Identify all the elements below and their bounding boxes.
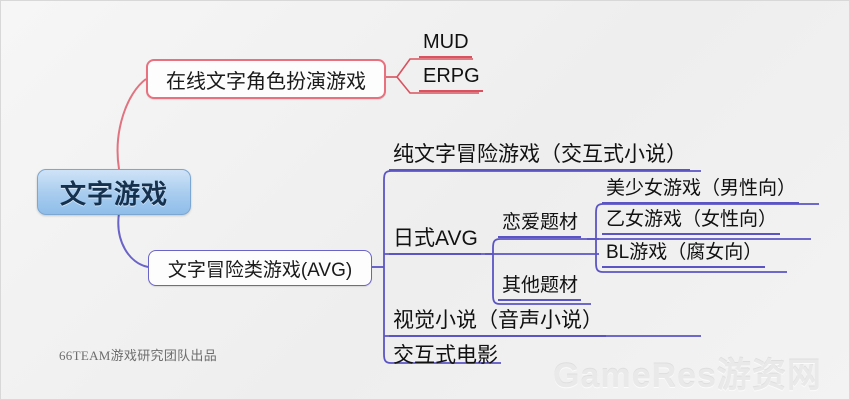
node-japanese-avg-label: 日式AVG [393,227,478,250]
node-text-adventure-avg-label: 文字冒险类游戏(AVG) [168,255,352,282]
node-erpg-label: ERPG [423,65,480,87]
edge-root-to-avg [118,213,148,267]
node-bishoujo-game[interactable]: 美少女游戏（男性向） [602,178,799,204]
root-node[interactable]: 文字游戏 [37,169,191,215]
node-bl-game-label: BL游戏（腐女向） [606,242,762,263]
node-interactive-movie[interactable]: 交互式电影 [389,344,501,370]
node-bishoujo-game-label: 美少女游戏（男性向） [606,178,796,199]
node-romance-theme-label: 恋爱题材 [502,212,578,233]
watermark: GameRes游资网 [553,348,822,397]
node-japanese-avg[interactable]: 日式AVG [389,227,481,255]
node-otome-game-label: 乙女游戏（女性向） [606,209,777,230]
node-other-theme-label: 其他题材 [502,275,578,296]
node-erpg[interactable]: ERPG [419,65,483,92]
node-mud[interactable]: MUD [419,31,472,58]
node-romance-theme[interactable]: 恋爱题材 [498,212,581,238]
node-online-text-rpg[interactable]: 在线文字角色扮演游戏 [146,59,386,99]
node-online-text-rpg-label: 在线文字角色扮演游戏 [166,65,366,94]
node-pure-text-adventure[interactable]: 纯文字冒险游戏（交互式小说） [389,143,690,171]
node-mud-label: MUD [423,31,469,53]
credit-text: 66TEAM游戏研究团队出品 [59,345,217,364]
node-pure-text-adventure-label: 纯文字冒险游戏（交互式小说） [393,143,687,166]
node-text-adventure-avg[interactable]: 文字冒险类游戏(AVG) [148,250,372,286]
node-other-theme[interactable]: 其他题材 [498,275,581,301]
edge-root-to-orpg [118,79,146,169]
node-otome-game[interactable]: 乙女游戏（女性向） [602,209,780,235]
node-bl-game[interactable]: BL游戏（腐女向） [602,242,765,268]
mindmap-canvas: 文字游戏 在线文字角色扮演游戏 MUD ERPG 文字冒险类游戏(AVG) 纯文… [0,0,850,400]
node-visual-novel[interactable]: 视觉小说（音声小说） [389,309,606,337]
root-node-label: 文字游戏 [60,174,168,211]
node-interactive-movie-label: 交互式电影 [393,344,498,367]
node-visual-novel-label: 视觉小说（音声小说） [393,309,603,332]
